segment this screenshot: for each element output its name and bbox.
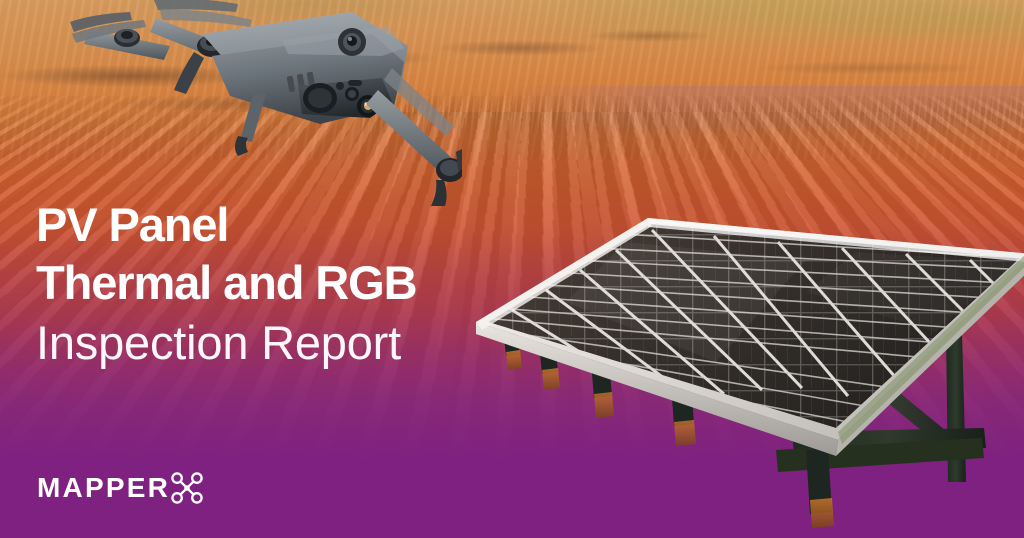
headline-line-3: Inspection Report bbox=[36, 312, 556, 374]
banner-hero: PV Panel Thermal and RGB Inspection Repo… bbox=[0, 0, 1024, 538]
headline-line-1: PV Panel bbox=[36, 196, 556, 254]
brand-wordmark: MAPPER bbox=[37, 473, 170, 503]
solar-panel-icon bbox=[476, 182, 1024, 538]
page-title: PV Panel Thermal and RGB Inspection Repo… bbox=[36, 196, 556, 374]
drone-icon bbox=[52, 0, 462, 206]
drone-quadcopter-x-icon bbox=[169, 470, 205, 506]
brand-logo[interactable]: MAPPER bbox=[37, 470, 205, 506]
headline-line-2: Thermal and RGB bbox=[36, 254, 556, 312]
